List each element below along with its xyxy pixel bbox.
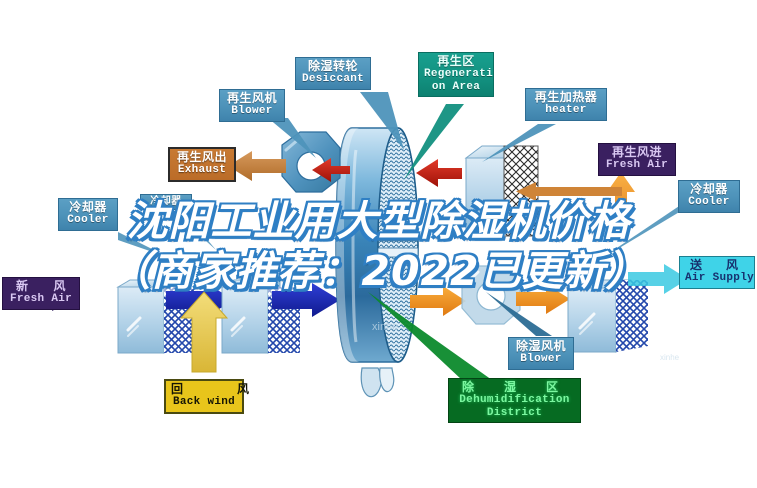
label-exhaust-cn: 再生风出 [175,151,229,164]
dehumidification-blower [462,266,520,324]
label-cooler-right-en: Cooler [684,196,734,208]
label-regen-fresh-air-in: 再生风进 Fresh Air [598,143,676,176]
label-regeneration-blower-en: Blower [225,105,279,117]
label-cooler-left-upper: 冷却器 Cooler [58,198,118,231]
corner-watermark: xinhe [660,353,680,362]
label-fresh-air-inlet-cn: 新 风 [8,280,74,293]
label-cooler-right: 冷却器 Cooler [678,180,740,213]
label-exhaust-en: Exhaust [175,164,229,176]
label-air-supply-en: Air Supply [685,272,749,284]
rotor-watermark: xinhe [372,321,398,333]
label-regeneration-area-en-1: Regenerati [424,68,488,80]
label-air-supply: 送 风 Air Supply [679,256,755,289]
dehumidifier-schematic-image: xinhe xinhe 除湿转轮 Desiccant 再生风机 Blower 再… [0,0,757,488]
label-cooler-left-upper-cn: 冷却器 [64,201,112,214]
label-cooler-left-upper-en: Cooler [64,214,112,226]
cooler-unit-right [568,280,648,352]
label-regen-fresh-air-in-cn: 再生风进 [604,146,670,159]
label-back-wind-en: Back wind [171,396,237,408]
label-fresh-air-inlet: 新 风 Fresh Air [2,277,80,310]
label-desiccant-wheel-en: Desiccant [301,73,365,85]
label-dehumidification-district-en-2: District [454,407,575,419]
label-regeneration-blower: 再生风机 Blower [219,89,285,122]
label-cooler-right-cn: 冷却器 [684,183,734,196]
label-cooler-left-lower: 冷却器 [140,194,192,210]
label-back-wind-cn: 回 风 [171,383,237,396]
label-regeneration-area-cn: 再生区 [424,55,488,68]
schematic-drawing: xinhe xinhe [0,0,757,488]
label-regeneration-area-en-2: on Area [424,81,488,93]
label-dehumidification-blower: 除湿风机 Blower [508,337,574,370]
label-air-supply-cn: 送 风 [685,259,749,272]
label-fresh-air-inlet-en: Fresh Air [8,293,74,305]
label-back-wind: 回 风 Back wind [164,379,244,414]
supply-air-arrow-2 [516,284,570,314]
label-regeneration-heater: 再生加热器 heater [525,88,607,121]
regen-exhaust-arrow-outer [228,151,286,181]
label-dehumidification-blower-cn: 除湿风机 [514,340,568,353]
label-regen-fresh-air-in-en: Fresh Air [604,159,670,171]
label-cooler-left-lower-cn: 冷却器 [144,196,188,207]
label-dehumidification-district-en-1: Dehumidification [454,394,575,406]
label-regeneration-blower-cn: 再生风机 [225,92,279,105]
cooler-unit-left-lower [222,280,300,353]
label-regeneration-area: 再生区 Regenerati on Area [418,52,494,97]
label-regeneration-heater-en: heater [531,104,601,116]
regen-hot-air-to-rotor-arrow [416,159,462,187]
label-dehumidification-district: 除 湿 区 Dehumidification District [448,378,581,423]
regeneration-blower [282,132,340,192]
label-regeneration-heater-cn: 再生加热器 [531,91,601,104]
label-desiccant-wheel-cn: 除湿转轮 [301,60,365,73]
label-exhaust: 再生风出 Exhaust [168,147,236,182]
label-dehumidification-blower-en: Blower [514,353,568,365]
label-desiccant-wheel: 除湿转轮 Desiccant [295,57,371,90]
supply-air-arrow-1 [410,286,466,316]
label-dehumidification-district-cn: 除 湿 区 [454,381,575,394]
